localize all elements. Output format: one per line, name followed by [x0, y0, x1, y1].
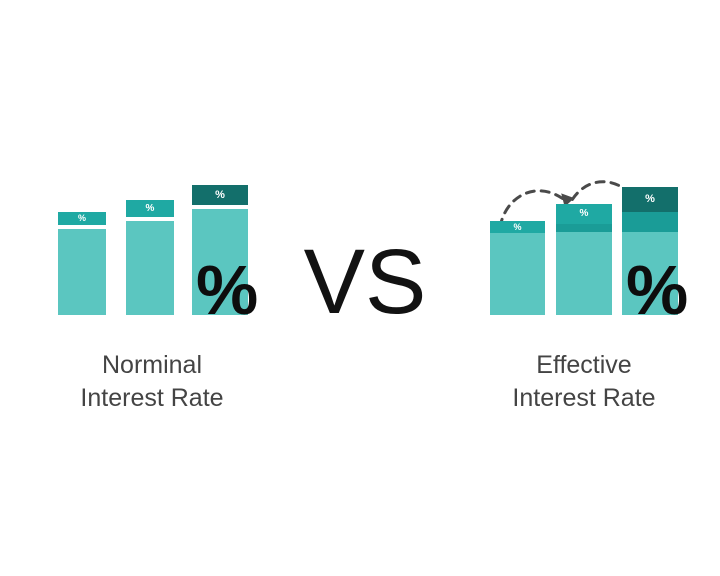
effective-bar-3-cap: %	[622, 187, 678, 212]
effective-bar-2-mid	[556, 224, 612, 232]
norminal-caption: Norminal Interest Rate	[2, 349, 302, 415]
norminal-caption-line1: Norminal	[2, 349, 302, 382]
effective-large-percent-symbol: %	[626, 255, 686, 325]
effective-caption-line2: Interest Rate	[434, 382, 720, 415]
infographic-canvas: % % % % Norminal Interest Rate VS	[0, 0, 720, 576]
effective-bar-1-cap: %	[490, 221, 545, 233]
effective-caption-line1: Effective	[434, 349, 720, 382]
effective-caption: Effective Interest Rate	[434, 349, 720, 415]
norminal-caption-line2: Interest Rate	[2, 382, 302, 415]
percent-badge-icon: %	[622, 194, 678, 205]
effective-bar-1-body	[490, 233, 545, 315]
effective-bar-3-mid	[622, 212, 678, 232]
effective-bar-2-body	[556, 232, 612, 315]
percent-badge-icon: %	[490, 223, 545, 232]
effective-bar-group: % % % %	[0, 0, 720, 340]
percent-badge-icon: %	[556, 209, 612, 219]
effective-bar-2-cap: %	[556, 204, 612, 224]
